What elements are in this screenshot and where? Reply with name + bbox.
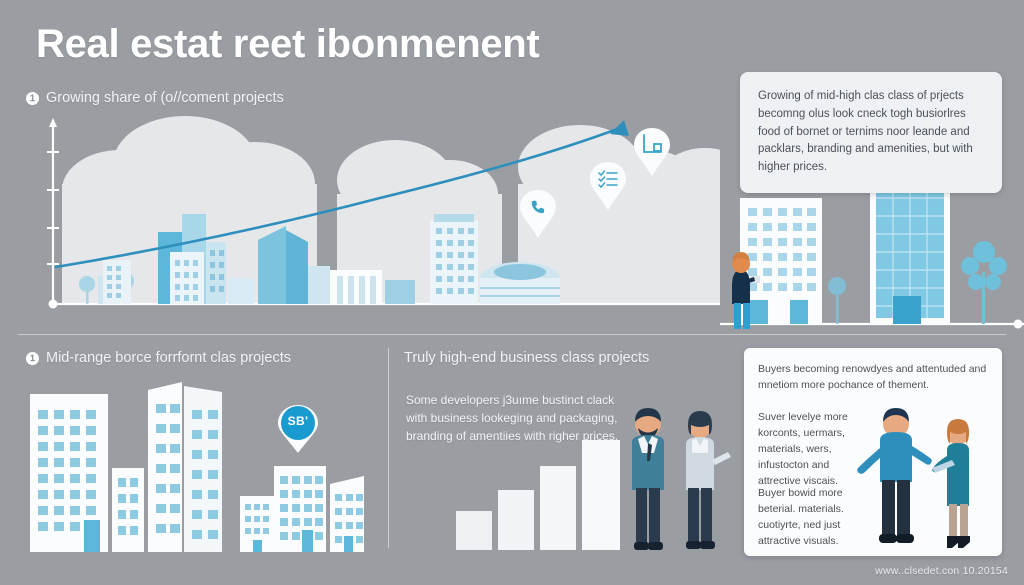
section-label-top-text: Growing share of (o//coment projects [46, 90, 284, 106]
infographic-canvas: Real estat reet ibonmenent 1 Growing sha… [0, 0, 1024, 585]
person-woman-teal [932, 419, 970, 548]
person-man [632, 408, 664, 550]
chart-svg [20, 112, 720, 322]
checklist-pin[interactable] [588, 160, 628, 212]
person-woman [686, 411, 731, 549]
pin-shape [518, 188, 558, 240]
callout-top: Growing of mid-high clas class of prject… [740, 72, 1002, 193]
price-badge-pin[interactable]: SB' [276, 404, 320, 454]
section-label-top: 1 Growing share of (o//coment projects [26, 90, 284, 106]
chart-origin-dot [49, 300, 58, 309]
business-people-svg [614, 398, 738, 550]
bar [498, 490, 534, 550]
section-label-bottom-left: 1 Mid-range borce forrfornt clas project… [26, 350, 291, 366]
footer-watermark: www..clsedet.con 10.20154 [875, 565, 1008, 577]
badge-pin-shape [276, 404, 320, 454]
building [286, 230, 308, 304]
buildings-svg [22, 368, 382, 552]
horizontal-divider [18, 334, 1006, 335]
bullet-number-bottom-left: 1 [26, 352, 39, 365]
page-title: Real estat reet ibonmenent [36, 22, 539, 67]
section-label-bottom-middle-text: Truly high-end business class projects [404, 350, 649, 366]
mid-range-buildings [22, 368, 382, 552]
building [228, 278, 254, 304]
building [385, 280, 415, 304]
ruler-chart-pin[interactable] [632, 126, 672, 178]
price-badge-text: SB' [276, 414, 320, 428]
business-people-illustration [614, 398, 738, 550]
section-label-bottom-left-text: Mid-range borce forrfornt clas projects [46, 350, 291, 366]
callout-br-paragraph-1: Suver levelye more korconts, uermars, ma… [758, 410, 858, 490]
tree-icon [961, 241, 1007, 324]
growth-line-chart [20, 112, 720, 322]
pin-shape [632, 126, 672, 178]
vertical-divider [388, 348, 389, 548]
bullet-number-top: 1 [26, 92, 39, 105]
callout-br-lead: Buyers becoming renowdyes and attentuded… [758, 362, 990, 394]
chart-y-axis [49, 118, 57, 304]
person-man-blue [857, 408, 932, 543]
phone-pin[interactable] [518, 188, 558, 240]
building [308, 266, 330, 304]
callout-people-svg [848, 396, 998, 556]
tree-icon [828, 277, 846, 324]
pin-shape [588, 160, 628, 212]
callout-people-illustration [848, 396, 998, 556]
building [112, 468, 144, 552]
bar [456, 511, 492, 550]
callout-bottom-right: Buyers becoming renowdyes and attentuded… [744, 348, 1002, 556]
callout-top-text: Growing of mid-high clas class of prject… [758, 88, 984, 177]
bar [540, 466, 576, 550]
section-label-bottom-middle: Truly high-end business class projects [404, 350, 649, 366]
